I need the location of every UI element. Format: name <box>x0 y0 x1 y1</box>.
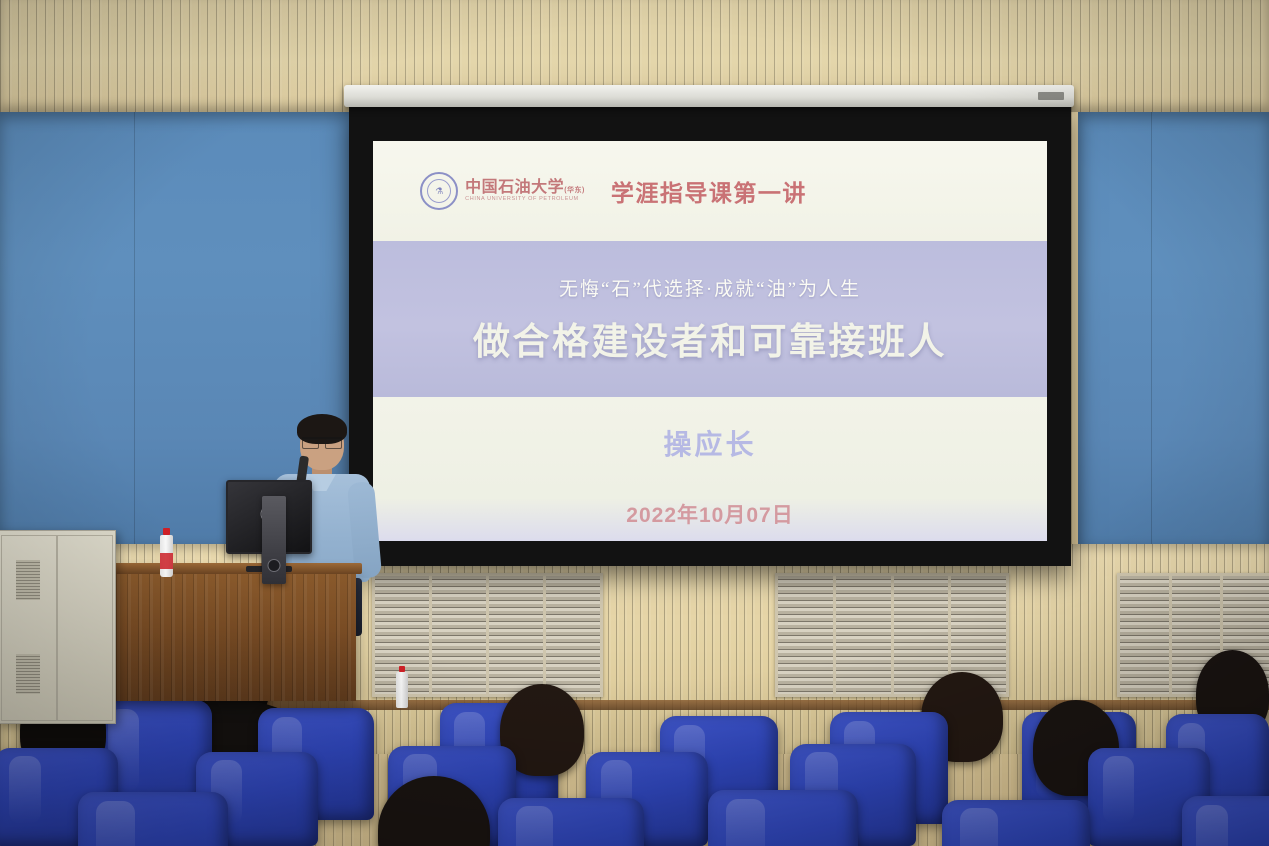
housing-brand-badge <box>1038 92 1064 100</box>
university-crest-icon: ⚗ <box>420 172 458 210</box>
slide-speaker-name: 操应长 <box>663 423 756 463</box>
auditorium-seat <box>78 792 228 846</box>
auditorium-seat <box>498 798 644 846</box>
water-bottle <box>160 535 173 577</box>
slide-header: ⚗ 中国石油大学(华东) CHINA UNIVERSITY OF PETROLE… <box>373 141 1047 241</box>
water-bottle <box>396 672 408 708</box>
slide-date: 2022年10月07日 <box>626 499 793 529</box>
university-logo: ⚗ 中国石油大学(华东) CHINA UNIVERSITY OF PETROLE… <box>420 172 585 210</box>
wooden-podium <box>94 571 356 701</box>
university-campus-cn: (华东) <box>564 187 585 194</box>
cabinet-vent-icon <box>16 654 40 694</box>
podium-top-surface <box>88 563 362 574</box>
university-name-cn: 中国石油大学(华东) <box>465 180 585 197</box>
auditorium-seat <box>708 790 858 846</box>
cabinet-door-left <box>1 535 57 721</box>
projected-slide: ⚗ 中国石油大学(华东) CHINA UNIVERSITY OF PETROLE… <box>373 141 1047 541</box>
auditorium-seat <box>942 800 1090 846</box>
university-name-cn-text: 中国石油大学 <box>465 179 564 196</box>
university-name-en: CHINA UNIVERSITY OF PETROLEUM <box>465 197 585 203</box>
slide-main-title: 做合格建设者和可靠接班人 <box>473 311 947 365</box>
bottle-cap <box>163 528 170 535</box>
auditorium-seat <box>1182 796 1269 846</box>
blue-acoustic-panel-right <box>1078 112 1269 544</box>
electrical-cabinet <box>0 530 116 724</box>
cabinet-vent-icon <box>16 560 40 600</box>
bottle-cap <box>399 666 405 672</box>
bottle-label <box>160 553 173 569</box>
cabinet-door-right <box>57 535 113 721</box>
university-name-block: 中国石油大学(华东) CHINA UNIVERSITY OF PETROLEUM <box>465 180 585 203</box>
slide-banner-title: 学涯指导课第一讲 <box>611 174 807 208</box>
slide-footer: 操应长 2022年10月07日 <box>373 397 1047 541</box>
lecture-hall-photo: ⚗ 中国石油大学(华东) CHINA UNIVERSITY OF PETROLE… <box>0 0 1269 846</box>
glasses-icon <box>302 437 342 447</box>
crest-glyph: ⚗ <box>427 179 451 203</box>
projection-screen: ⚗ 中国石油大学(华东) CHINA UNIVERSITY OF PETROLE… <box>349 104 1071 566</box>
computer-tower <box>262 496 286 584</box>
projector-screen-housing <box>344 85 1074 107</box>
slide-subtitle: 无悔“石”代选择·成就“油”为人生 <box>559 274 861 301</box>
slide-title-band: 无悔“石”代选择·成就“油”为人生 做合格建设者和可靠接班人 <box>373 241 1047 397</box>
